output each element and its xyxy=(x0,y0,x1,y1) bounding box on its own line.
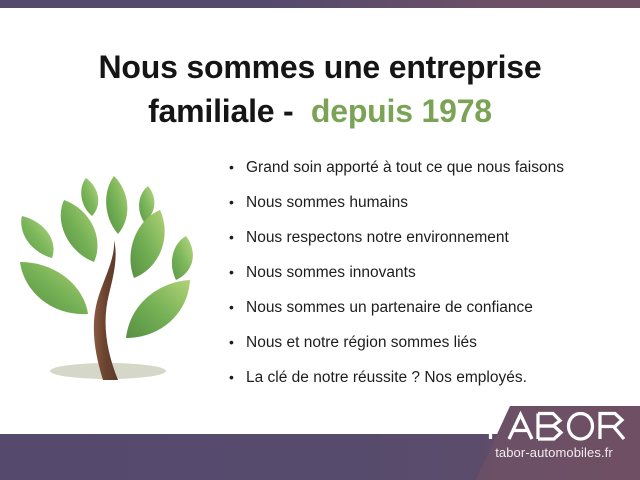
list-item: • La clé de notre réussite ? Nos employé… xyxy=(228,360,628,395)
list-item: • Nous respectons notre environnement xyxy=(228,220,628,255)
headline-line-2-plain: familiale - xyxy=(148,93,311,129)
bullet-icon: • xyxy=(229,150,234,185)
tree-leaves xyxy=(20,176,193,338)
page-title: Nous sommes une entreprise familiale - d… xyxy=(0,45,640,133)
top-accent-strip xyxy=(0,0,640,8)
list-item-label: La clé de notre réussite ? Nos employés. xyxy=(246,369,527,386)
bullet-icon: • xyxy=(229,360,234,395)
list-item: • Nous sommes innovants xyxy=(228,255,628,290)
headline-line-2: familiale - depuis 1978 xyxy=(0,89,640,133)
tree-trunk xyxy=(94,240,118,380)
tabor-wordmark-icon xyxy=(470,408,638,444)
list-item: • Nous sommes humains xyxy=(228,185,628,220)
list-item: • Nous et notre région sommes liés xyxy=(228,325,628,360)
headline-line-1: Nous sommes une entreprise xyxy=(0,45,640,89)
values-bullet-list: • Grand soin apporté à tout ce que nous … xyxy=(228,150,628,395)
list-item-label: Grand soin apporté à tout ce que nous fa… xyxy=(246,159,564,176)
leaf-top-left-small xyxy=(81,178,98,216)
bullet-icon: • xyxy=(229,325,234,360)
list-item: • Grand soin apporté à tout ce que nous … xyxy=(228,150,628,185)
list-item-label: Nous sommes un partenaire de confiance xyxy=(246,299,533,316)
brand-tagline: tabor-automobiles.fr xyxy=(470,445,638,460)
leaf-mid-left-small xyxy=(21,216,53,258)
leaf-lower-right xyxy=(126,280,190,338)
list-item-label: Nous sommes humains xyxy=(246,194,408,211)
list-item: • Nous sommes un partenaire de confiance xyxy=(228,290,628,325)
bullet-icon: • xyxy=(229,220,234,255)
family-tree-illustration xyxy=(8,152,223,387)
leaf-lower-left xyxy=(20,262,88,314)
brand-logo[interactable]: tabor-automobiles.fr xyxy=(470,408,638,460)
list-item-label: Nous sommes innovants xyxy=(246,264,416,281)
bullet-icon: • xyxy=(229,290,234,325)
leaf-mid-right-small xyxy=(172,236,193,280)
list-item-label: Nous respectons notre environnement xyxy=(246,229,509,246)
headline-accent-year: depuis 1978 xyxy=(311,93,492,129)
leaf-top-center xyxy=(106,176,127,234)
list-item-label: Nous et notre région sommes liés xyxy=(246,334,477,351)
leaf-upper-right xyxy=(130,210,164,278)
bullet-icon: • xyxy=(229,255,234,290)
bullet-icon: • xyxy=(229,185,234,220)
